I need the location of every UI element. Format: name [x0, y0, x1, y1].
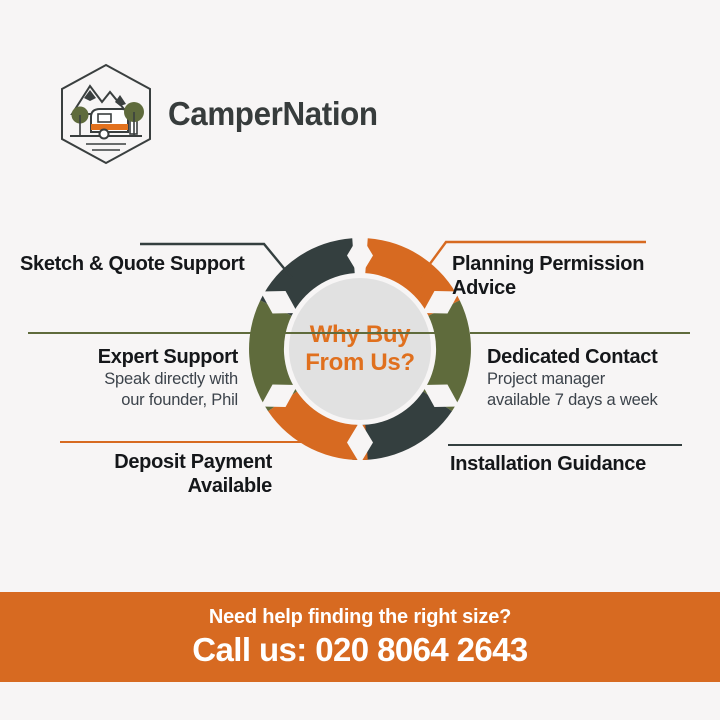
footer-question: Need help finding the right size?: [209, 606, 511, 629]
benefit-title-line-1: Planning Permission: [452, 252, 702, 276]
benefit-planning-permission-advice: Planning Permission Advice: [452, 252, 702, 301]
connector-expert-support: [28, 332, 468, 334]
benefit-installation-guidance: Installation Guidance: [450, 452, 700, 476]
brand-logo: CamperNation: [58, 62, 389, 166]
benefit-expert-support: Expert Support Speak directly with our f…: [10, 345, 238, 411]
benefit-sub-line-2: our founder, Phil: [10, 390, 238, 411]
hub-line-2: From Us?: [305, 349, 415, 377]
benefit-title-line-2: Advice: [452, 276, 702, 300]
benefit-title-line-1: Deposit Payment: [30, 450, 272, 474]
benefit-title: Dedicated Contact: [487, 345, 702, 369]
why-buy-from-us-diagram: Why Buy From Us? Sketch & Quote Support …: [0, 200, 720, 530]
hub-line-1: Why Buy: [310, 321, 411, 349]
benefit-sub-line-1: Project manager: [487, 369, 702, 390]
footer-call-to-action[interactable]: Call us: 020 8064 2643: [192, 631, 527, 669]
benefit-dedicated-contact: Dedicated Contact Project manager availa…: [487, 345, 702, 411]
connector-dedicated-contact: [470, 332, 690, 334]
contact-banner: Need help finding the right size? Call u…: [0, 592, 720, 682]
connector-installation-guidance: [448, 444, 682, 446]
hexagon-camper-mountains-logo-icon: [58, 62, 154, 166]
benefit-sub-line-2: available 7 days a week: [487, 390, 702, 411]
benefit-title-line-2: Available: [30, 474, 272, 498]
benefit-title: Expert Support: [10, 345, 238, 369]
benefit-sub-line-1: Speak directly with: [10, 369, 238, 390]
benefit-sketch-quote-support: Sketch & Quote Support: [20, 252, 280, 276]
benefit-deposit-payment: Deposit Payment Available: [30, 450, 272, 499]
benefit-title: Sketch & Quote Support: [20, 252, 280, 276]
connector-deposit-payment: [60, 441, 310, 443]
hub-why-buy-from-us: Why Buy From Us?: [289, 278, 431, 420]
benefit-title: Installation Guidance: [450, 452, 700, 476]
brand-wordmark: CamperNation: [168, 95, 378, 133]
